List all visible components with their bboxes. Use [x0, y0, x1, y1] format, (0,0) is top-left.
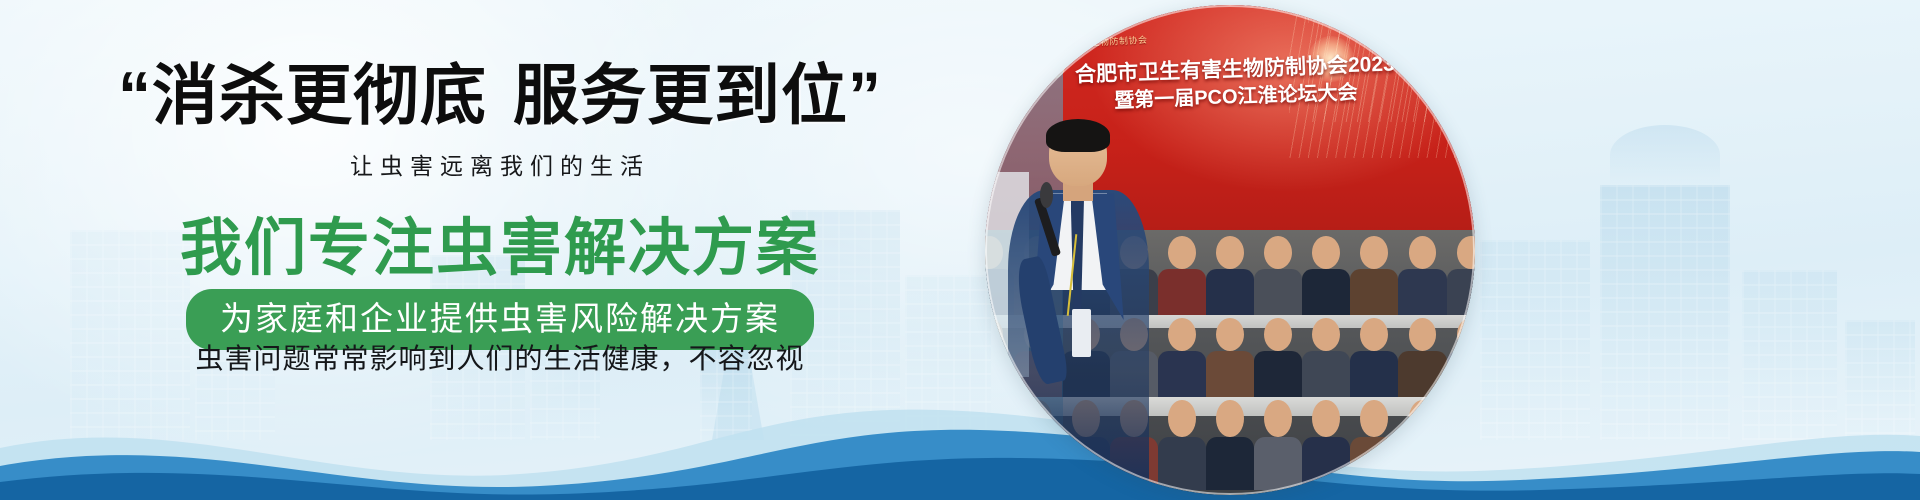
audience-person [1447, 236, 1476, 315]
speaker-figure [1005, 123, 1152, 495]
audience-person [1158, 236, 1206, 315]
skyline-dome [1610, 125, 1720, 185]
audience-person [1254, 318, 1302, 397]
audience-person [1158, 400, 1206, 490]
audience-person [1302, 236, 1350, 315]
audience-person [1398, 318, 1446, 397]
audience-person [1254, 400, 1302, 490]
audience-person [1302, 318, 1350, 397]
subtitle: 让虫害远离我们的生活 [0, 155, 1000, 178]
headline-green: 我们专注虫害解决方案 [0, 215, 1000, 283]
audience-person [1206, 400, 1254, 490]
audience-person [1350, 236, 1398, 315]
pill-container: 为家庭和企业提供虫害风险解决方案 [0, 289, 1000, 350]
promo-banner: “消杀更彻底服务更到位” 让虫害远离我们的生活 我们专注虫害解决方案 为家庭和企… [0, 0, 1920, 500]
audience-person [1447, 400, 1476, 490]
footer-tagline: 虫害问题常常影响到人们的生活健康，不容忽视 [0, 345, 1000, 373]
audience-person [1302, 400, 1350, 490]
audience-person [1447, 318, 1476, 397]
service-scope-pill: 为家庭和企业提供虫害风险解决方案 [186, 289, 814, 350]
audience-person [1206, 236, 1254, 315]
speaker-hair [1046, 119, 1111, 153]
audience-person [1398, 400, 1446, 490]
audience-person [1398, 236, 1446, 315]
banner-text-content: “消杀更彻底服务更到位” 让虫害远离我们的生活 我们专注虫害解决方案 为家庭和企… [0, 0, 1000, 500]
page-title: “消杀更彻底服务更到位” [0, 62, 1000, 128]
audience-person [1350, 318, 1398, 397]
audience-person [1158, 318, 1206, 397]
headline-part-2: 服务更到位” [513, 58, 882, 132]
audience-person [1254, 236, 1302, 315]
speaker-badge [1072, 309, 1091, 357]
headline-part-1: “消杀更彻底 [118, 58, 487, 132]
conference-photo: 合肥市卫生有害生物防制协会 合肥市卫生有害生物防制协会2023 暨第一届PCO江… [985, 5, 1475, 495]
photo-inner: 合肥市卫生有害生物防制协会 合肥市卫生有害生物防制协会2023 暨第一届PCO江… [985, 5, 1475, 495]
audience-person [1350, 400, 1398, 490]
audience-person [1206, 318, 1254, 397]
